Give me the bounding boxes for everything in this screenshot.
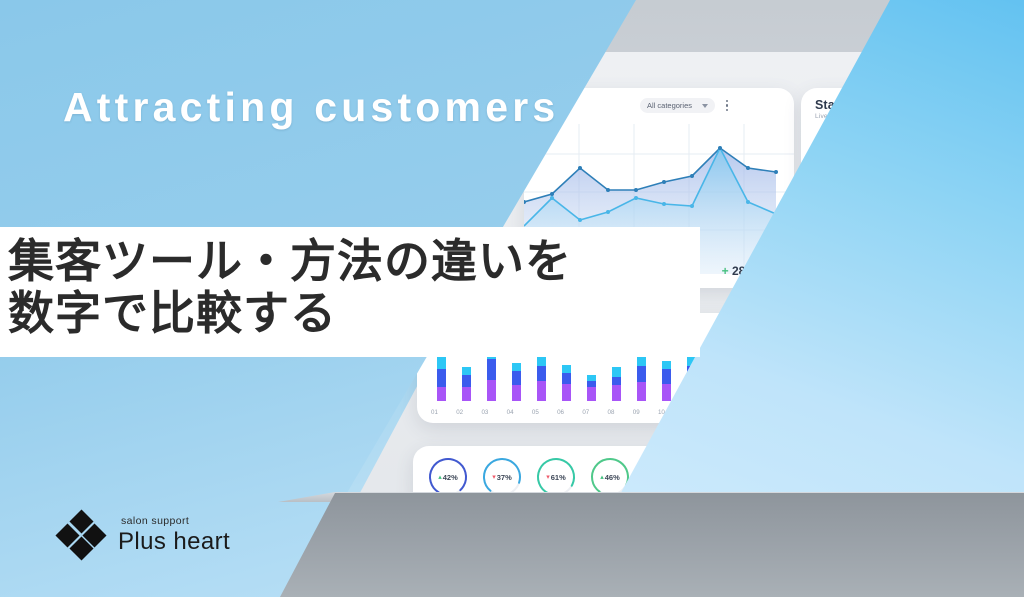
brand-tagline: salon support [121, 516, 230, 527]
gauge-value: 61% [551, 473, 566, 482]
trend-down-icon: ▾ [546, 473, 550, 481]
gauge-37: ▾ 37% [481, 456, 523, 498]
bar-tick: 07 [582, 409, 589, 416]
bar-tick: 02 [456, 409, 463, 416]
trend-up-icon: ▴ [600, 473, 604, 481]
gauge-value: 42% [443, 473, 458, 482]
gauge-42: ▴ 42% [427, 456, 469, 498]
page-title-japanese: 集客ツール・方法の違いを 数字で比較する [8, 236, 698, 339]
chevron-down-icon [702, 104, 708, 108]
gauge-value: 46% [605, 473, 620, 482]
brand-logo: salon support Plus heart [58, 512, 230, 558]
bar-tick: 04 [507, 409, 514, 416]
all-categories-dropdown[interactable]: All categories [640, 98, 715, 113]
brand-text: salon support Plus heart [118, 516, 230, 555]
all-categories-label: All categories [647, 101, 692, 110]
bar-tick: 05 [532, 409, 539, 416]
trend-down-icon: ▾ [492, 473, 496, 481]
gauge-label: ▴ 42% [427, 456, 469, 498]
gauge-value: 37% [497, 473, 512, 482]
poster-canvas: All categories [0, 0, 1024, 597]
bar-tick: 01 [431, 409, 438, 416]
delta-sign: + [722, 264, 729, 278]
headline-line-1: 集客ツール・方法の違いを [8, 236, 698, 288]
gauge-61: ▾ 61% [535, 456, 577, 498]
brand-name: Plus heart [118, 530, 230, 554]
trend-up-icon: ▴ [438, 473, 442, 481]
gauge-label: ▾ 61% [535, 456, 577, 498]
gauge-label: ▾ 37% [481, 456, 523, 498]
headline-line-2: 数字で比較する [8, 288, 698, 340]
bar-tick: 08 [608, 409, 615, 416]
bar-tick: 09 [633, 409, 640, 416]
bar-tick: 03 [481, 409, 488, 416]
page-title-english: Attracting customers [63, 84, 559, 131]
kebab-menu-icon[interactable] [726, 100, 728, 111]
bar-tick: 06 [557, 409, 564, 416]
four-diamond-mark-icon [58, 512, 104, 558]
